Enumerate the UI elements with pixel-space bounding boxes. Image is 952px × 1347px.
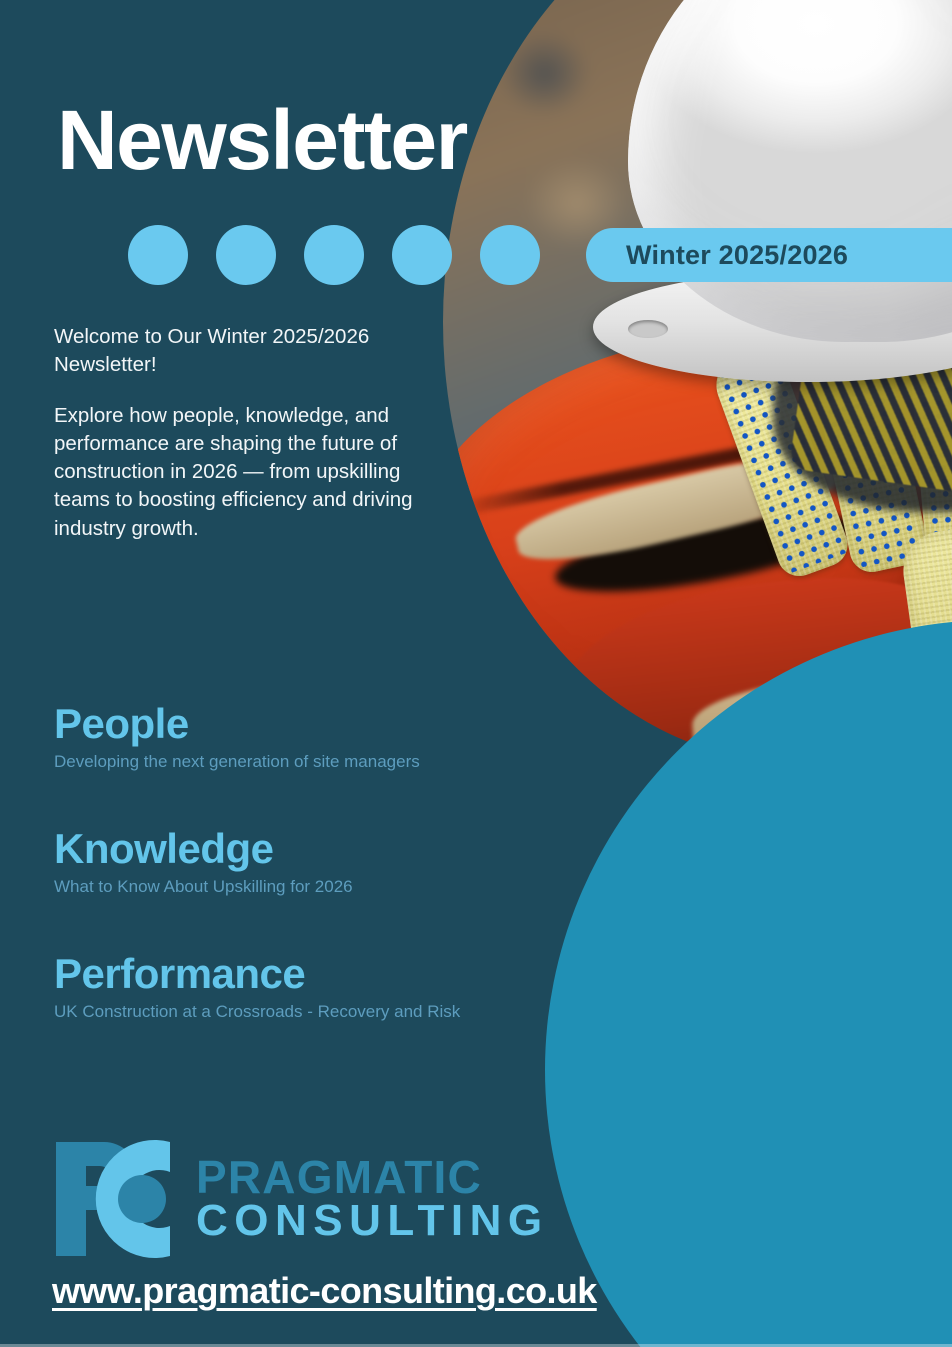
dot-icon [128,225,188,285]
pragmatic-consulting-logo-icon [52,1138,180,1260]
logo-wordmark: PRAGMATIC CONSULTING [196,1155,549,1242]
page-title: Newsletter [57,98,467,182]
logo-word-pragmatic: PRAGMATIC [196,1155,549,1200]
section-subtitle: Developing the next generation of site m… [54,751,574,773]
section-knowledge[interactable]: Knowledge What to Know About Upskilling … [54,825,574,898]
section-subtitle: What to Know About Upskilling for 2026 [54,876,574,898]
section-title: Performance [54,950,574,997]
newsletter-cover-page: Newsletter Winter 2025/2026 Welcome to O… [0,0,952,1347]
intro-paragraph-1: Welcome to Our Winter 2025/2026 Newslett… [54,323,452,380]
intro-paragraph-2: Explore how people, knowledge, and perfo… [54,402,452,543]
company-logo[interactable]: PRAGMATIC CONSULTING [52,1138,549,1260]
section-performance[interactable]: Performance UK Construction at a Crossro… [54,950,574,1023]
website-url-link[interactable]: www.pragmatic-consulting.co.uk [52,1270,597,1312]
section-title: People [54,700,574,747]
dot-icon [392,225,452,285]
photo-helmet-vent [628,320,668,338]
decorative-dots-row [128,225,540,285]
section-people[interactable]: People Developing the next generation of… [54,700,574,773]
intro-copy: Welcome to Our Winter 2025/2026 Newslett… [54,323,452,543]
section-subtitle: UK Construction at a Crossroads - Recove… [54,1001,574,1023]
dot-icon [480,225,540,285]
logo-word-consulting: CONSULTING [196,1200,549,1243]
issue-badge: Winter 2025/2026 [586,228,952,282]
section-list: People Developing the next generation of… [54,700,574,1023]
dot-icon [216,225,276,285]
dot-icon [304,225,364,285]
section-title: Knowledge [54,825,574,872]
